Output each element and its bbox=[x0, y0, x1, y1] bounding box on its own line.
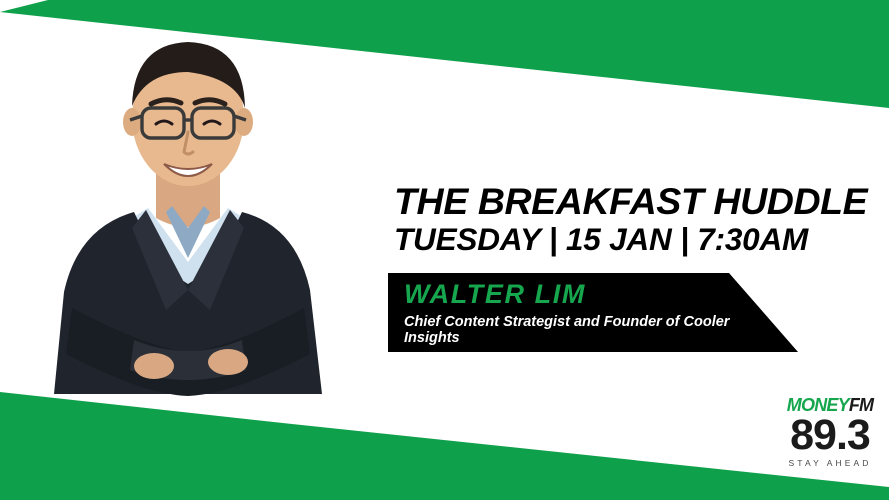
show-title: THE BREAKFAST HUDDLE bbox=[394, 182, 874, 220]
guest-banner-text: WALTER LIM Chief Content Strategist and … bbox=[404, 280, 738, 346]
promo-card: THE BREAKFAST HUDDLE TUESDAY | 15 JAN | … bbox=[0, 0, 889, 500]
logo-tagline: STAY AHEAD bbox=[778, 458, 882, 468]
guest-banner: WALTER LIM Chief Content Strategist and … bbox=[388, 273, 798, 352]
station-logo: MONEYFM 89.3 STAY AHEAD bbox=[778, 396, 882, 472]
guest-title: Chief Content Strategist and Founder of … bbox=[404, 314, 738, 346]
headline-block: THE BREAKFAST HUDDLE TUESDAY | 15 JAN | … bbox=[394, 182, 874, 255]
logo-frequency: 89.3 bbox=[778, 415, 882, 455]
guest-portrait-photo bbox=[38, 22, 338, 434]
guest-name: WALTER LIM bbox=[404, 280, 738, 310]
show-schedule: TUESDAY | 15 JAN | 7:30AM bbox=[394, 223, 874, 255]
